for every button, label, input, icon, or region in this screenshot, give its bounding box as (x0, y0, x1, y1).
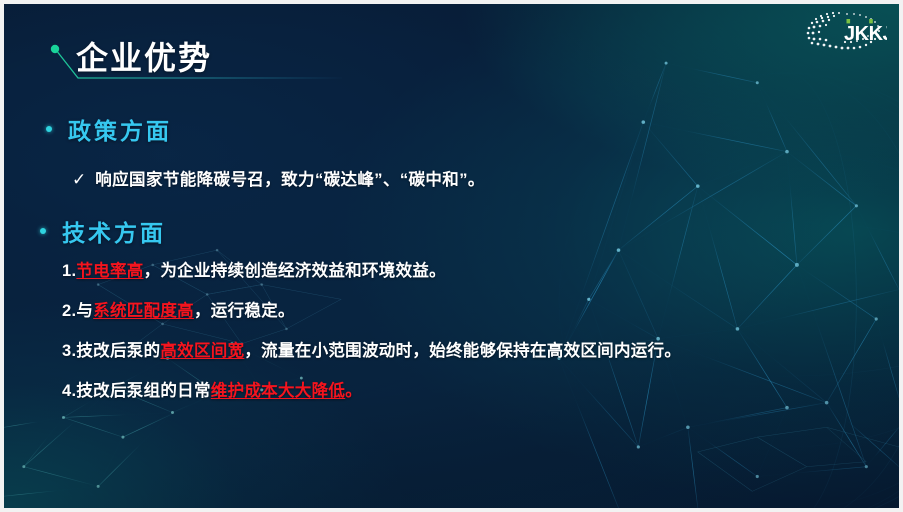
tech-advantage-prefix: 技改后泵的 (76, 342, 160, 360)
bullet-dot-icon (46, 126, 52, 132)
tech-advantage-suffix: ，流量在小范围波动时，始终能够保持在高效区间内运行。 (244, 342, 681, 360)
tech-advantage-prefix: 技改后泵组的日常 (76, 382, 210, 400)
tech-advantage-number: 1. (62, 262, 76, 280)
section-heading-policy: 政策方面 (46, 112, 172, 146)
tech-advantage-item: 3.技改后泵的高效区间宽，流量在小范围波动时，始终能够保持在高效区间内运行。 (62, 342, 862, 361)
section-heading-tech-label: 技术方面 (62, 214, 166, 248)
tech-advantage-tail-highlight: 。 (345, 382, 362, 400)
slide-content: 政策方面 ✓ 响应国家节能降碳号召，致力“碳达峰”、“碳中和”。 技术方面 1.… (4, 4, 899, 508)
tech-advantage-item: 1.节电率高，为企业持续创造经济效益和环境效益。 (62, 262, 862, 281)
tech-advantage-highlight: 系统匹配度高 (93, 302, 194, 320)
tech-advantage-suffix: ，为企业持续创造经济效益和环境效益。 (144, 262, 446, 280)
tech-advantage-item: 2.与系统匹配度高，运行稳定。 (62, 302, 862, 321)
tech-advantage-highlight: 节电率高 (76, 262, 143, 280)
tech-advantage-item: 4.技改后泵组的日常维护成本大大降低。 (62, 382, 862, 401)
slide-canvas: JKKJ 企业优势 政策方面 ✓ 响应国家节能降碳号召，致力“碳达 (0, 0, 903, 512)
policy-bullet-item: ✓ 响应国家节能降碳号召，致力“碳达峰”、“碳中和”。 (72, 166, 485, 190)
policy-bullet-text: 响应国家节能降碳号召，致力“碳达峰”、“碳中和”。 (95, 166, 485, 190)
section-heading-policy-label: 政策方面 (68, 112, 172, 146)
tech-advantage-list: 1.节电率高，为企业持续创造经济效益和环境效益。2.与系统匹配度高，运行稳定。3… (62, 262, 862, 401)
tech-advantage-number: 3. (62, 342, 76, 360)
tech-advantage-suffix: ，运行稳定。 (194, 302, 295, 320)
tech-advantage-number: 4. (62, 382, 76, 400)
tech-advantage-highlight: 高效区间宽 (160, 342, 244, 360)
tech-advantage-prefix: 与 (76, 302, 93, 320)
tech-advantage-highlight: 维护成本大大降低 (211, 382, 345, 400)
bullet-dot-icon (40, 228, 46, 234)
section-heading-tech: 技术方面 (40, 214, 166, 248)
check-icon: ✓ (72, 170, 86, 190)
tech-advantage-number: 2. (62, 302, 76, 320)
